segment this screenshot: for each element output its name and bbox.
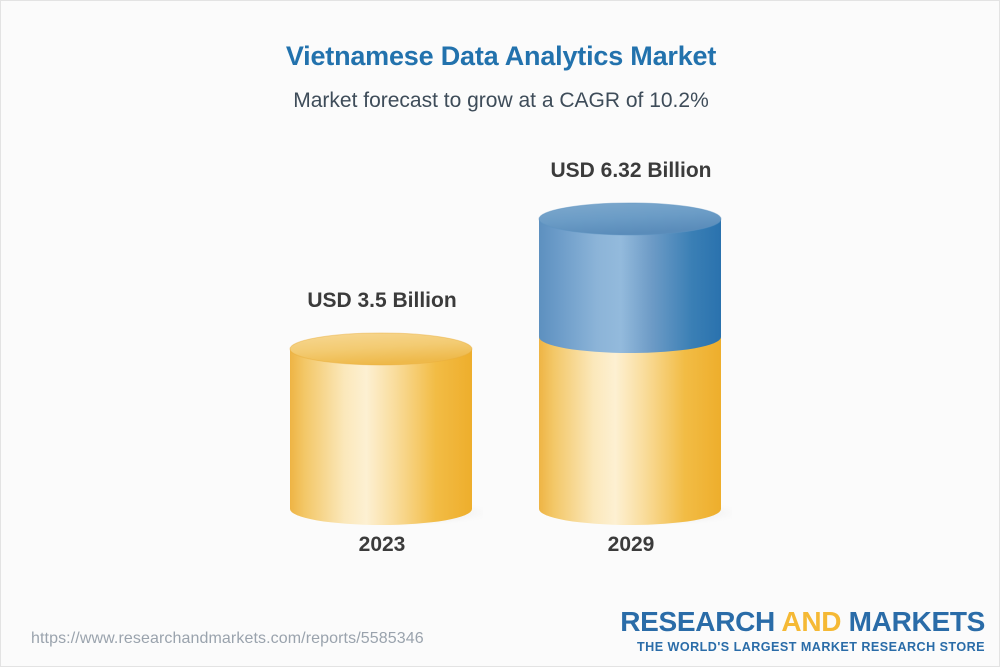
value-label-2023: USD 3.5 Billion (252, 289, 512, 313)
plot-area: USD 3.5 Billion (1, 1, 1000, 601)
logo-word-and: AND (781, 606, 841, 637)
logo-word-research: RESEARCH (620, 606, 781, 637)
logo-tagline: THE WORLD'S LARGEST MARKET RESEARCH STOR… (620, 641, 985, 654)
source-url[interactable]: https://www.researchandmarkets.com/repor… (31, 630, 424, 648)
cylinder-bar-2029 (532, 197, 732, 527)
cylinder-bar-2023 (283, 327, 483, 527)
research-and-markets-logo[interactable]: RESEARCH AND MARKETS THE WORLD'S LARGEST… (620, 608, 985, 654)
category-label-2029: 2029 (501, 533, 761, 557)
logo-word-markets: MARKETS (841, 606, 985, 637)
chart-canvas: Vietnamese Data Analytics Market Market … (0, 0, 1000, 667)
category-label-2023: 2023 (252, 533, 512, 557)
value-label-2029: USD 6.32 Billion (501, 159, 761, 183)
logo-wordmark: RESEARCH AND MARKETS (620, 608, 985, 636)
